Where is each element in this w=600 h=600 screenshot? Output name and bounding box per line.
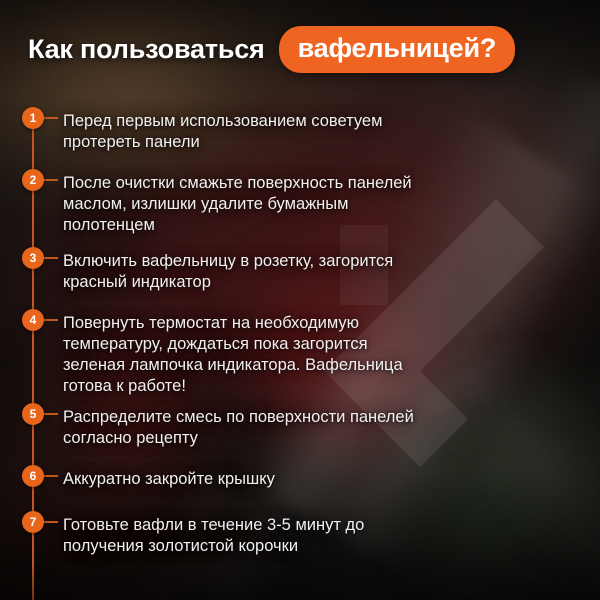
- step-connector-tick: [44, 475, 58, 477]
- step-number-badge: 4: [22, 309, 44, 331]
- step-number-badge: 5: [22, 403, 44, 425]
- step-text: Включить вафельницу в розетку, загорится…: [63, 251, 551, 293]
- step-connector-tick: [44, 413, 58, 415]
- step-number-badge: 1: [22, 107, 44, 129]
- step-text: Повернуть термостат на необходимую темпе…: [63, 313, 551, 397]
- step-connector-tick: [44, 117, 58, 119]
- step-number-badge: 2: [22, 169, 44, 191]
- step-connector-tick: [44, 521, 58, 523]
- step-text: Распределите смесь по поверхности панеле…: [63, 407, 551, 449]
- step-text: Аккуратно закройте крышку: [63, 469, 551, 490]
- step-text: Перед первым использованием советуем про…: [63, 111, 551, 153]
- infographic-poster: Как пользоваться вафельницей? 1Перед пер…: [0, 0, 600, 600]
- steps-list: 1Перед первым использованием советуем пр…: [0, 0, 600, 600]
- step-connector-tick: [44, 257, 58, 259]
- step-number-badge: 6: [22, 465, 44, 487]
- step-text: Готовьте вафли в течение 3-5 минут до по…: [63, 515, 551, 557]
- step-number-badge: 7: [22, 511, 44, 533]
- step-connector-tick: [44, 179, 58, 181]
- step-number-badge: 3: [22, 247, 44, 269]
- step-connector-tick: [44, 319, 58, 321]
- step-text: После очистки смажьте поверхность панеле…: [63, 173, 551, 236]
